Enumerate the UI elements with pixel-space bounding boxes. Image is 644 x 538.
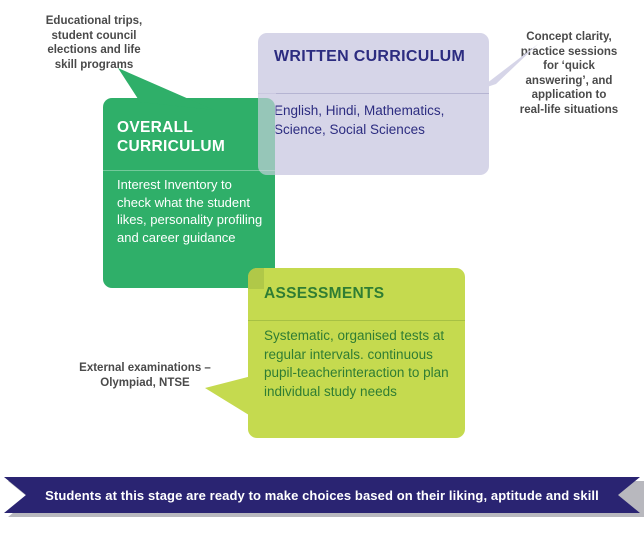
overall-curriculum-card[interactable]: OVERALL CURRICULUM Interest Inventory to…: [103, 98, 275, 288]
assessments-card[interactable]: ASSESSMENTS Systematic, organised tests …: [248, 268, 465, 438]
diagram-canvas: Educational trips, student council elect…: [0, 0, 644, 538]
written-curriculum-title: WRITTEN CURRICULUM: [274, 47, 479, 67]
assessments-body: Systematic, organised tests at regular i…: [264, 327, 456, 401]
written-curriculum-divider: [258, 93, 489, 94]
summary-banner-ribbon: [4, 477, 640, 515]
overall-curriculum-divider: [103, 170, 275, 171]
overall-curriculum-callout-tail: [104, 68, 214, 110]
assessments-title: ASSESSMENTS: [264, 284, 454, 303]
assessments-divider: [248, 320, 465, 321]
overall-curriculum-title: OVERALL CURRICULUM: [117, 118, 267, 156]
summary-banner: Students at this stage are ready to make…: [4, 477, 640, 519]
written-curriculum-body: English, Hindi, Mathematics, Science, So…: [274, 101, 479, 139]
overall-curriculum-body: Interest Inventory to check what the stu…: [117, 176, 267, 246]
written-curriculum-card[interactable]: WRITTEN CURRICULUM English, Hindi, Mathe…: [258, 33, 489, 175]
educational-trips-annotation: Educational trips, student council elect…: [18, 14, 170, 72]
